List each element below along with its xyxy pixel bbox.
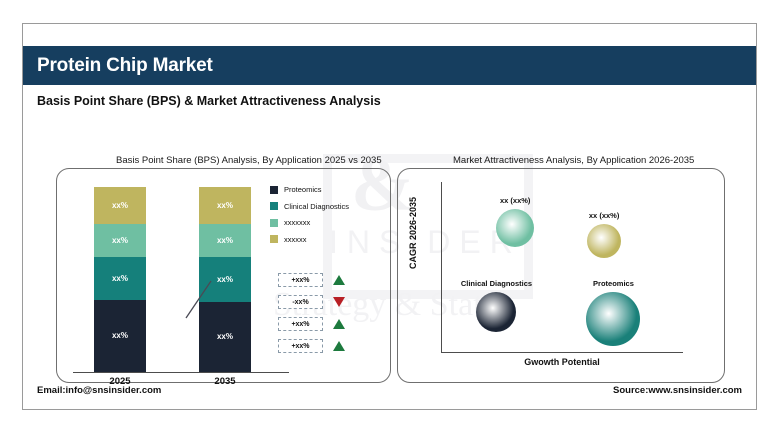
bps-chart-title: Basis Point Share (BPS) Analysis, By App… [116, 155, 382, 166]
bps-bar-segment: xx% [94, 187, 146, 224]
bps-bar-segment: xx% [199, 187, 251, 224]
market-x-axis-label: Gwowth Potential [441, 357, 683, 367]
bps-bar-segment: xx% [94, 300, 146, 372]
legend-item-label: xxxxxx [284, 235, 307, 244]
bps-bar-segment: xx% [94, 224, 146, 257]
bps-x-tick-label: 2035 [195, 376, 255, 387]
legend-item[interactable]: xxxxxxx [270, 218, 349, 227]
bps-segment-label: xx% [217, 236, 233, 245]
legend-swatch-icon [270, 235, 278, 243]
bps-delta-list: +xx%-xx%+xx%+xx% [278, 273, 345, 361]
legend-item[interactable]: Proteomics [270, 185, 349, 194]
bps-bar: xx%xx%xx%xx% [94, 187, 146, 372]
bps-delta-value: +xx% [278, 339, 323, 353]
bps-delta-value: -xx% [278, 295, 323, 309]
bps-segment-label: xx% [112, 236, 128, 245]
bps-segment-label: xx% [112, 331, 128, 340]
market-y-axis-label: CAGR 2026-2035 [408, 188, 418, 278]
bps-x-axis [73, 372, 289, 373]
bps-chart: xx%xx%xx%xx%2025xx%xx%xx%xx%2035 Proteom… [56, 168, 391, 408]
bps-delta-row: +xx% [278, 317, 345, 331]
legend-item-label: Clinical Diagnostics [284, 202, 349, 211]
bps-segment-label: xx% [112, 274, 128, 283]
legend-item[interactable]: Clinical Diagnostics [270, 202, 349, 211]
bps-delta-value: +xx% [278, 273, 323, 287]
market-bubble-label: Proteomics [593, 279, 634, 288]
market-bubble-label: Clinical Diagnostics [461, 279, 532, 288]
bps-bar-segment: xx% [199, 224, 251, 257]
bps-delta-row: -xx% [278, 295, 345, 309]
market-x-axis [441, 352, 683, 353]
bps-x-tick-label: 2025 [90, 376, 150, 387]
bps-connector-line [184, 278, 214, 320]
market-bubble[interactable] [586, 292, 640, 346]
footer-source: Source:www.snsinsider.com [613, 385, 742, 396]
bps-delta-value: +xx% [278, 317, 323, 331]
legend-item-label: xxxxxxx [284, 218, 310, 227]
page-title: Protein Chip Market [23, 55, 213, 77]
bps-bar-segment: xx% [94, 257, 146, 300]
legend-swatch-icon [270, 202, 278, 210]
market-bubble-label: xx (xx%) [589, 211, 619, 220]
market-bubble[interactable] [496, 209, 534, 247]
market-chart-title: Market Attractiveness Analysis, By Appli… [453, 155, 694, 166]
header-bar: Protein Chip Market [23, 46, 756, 85]
legend-item-label: Proteomics [284, 185, 322, 194]
poster-frame: Protein Chip Market Basis Point Share (B… [22, 23, 757, 410]
market-bubble[interactable] [587, 224, 621, 258]
page-subtitle: Basis Point Share (BPS) & Market Attract… [37, 94, 381, 108]
market-y-axis [441, 182, 442, 352]
market-attractiveness-chart: CAGR 2026-2035 Gwowth Potential xx (xx%)… [397, 168, 725, 383]
bps-segment-label: xx% [112, 201, 128, 210]
bps-delta-row: +xx% [278, 273, 345, 287]
arrow-up-icon [333, 319, 345, 329]
market-bubble[interactable] [476, 292, 516, 332]
bps-segment-label: xx% [217, 201, 233, 210]
market-bubble-label: xx (xx%) [500, 196, 530, 205]
bps-delta-row: +xx% [278, 339, 345, 353]
arrow-down-icon [333, 297, 345, 307]
arrow-up-icon [333, 275, 345, 285]
legend-swatch-icon [270, 186, 278, 194]
arrow-up-icon [333, 341, 345, 351]
legend-item[interactable]: xxxxxx [270, 235, 349, 244]
bps-legend: ProteomicsClinical Diagnosticsxxxxxxxxxx… [270, 185, 349, 251]
bps-segment-label: xx% [217, 332, 233, 341]
bps-segment-label: xx% [217, 275, 233, 284]
legend-swatch-icon [270, 219, 278, 227]
